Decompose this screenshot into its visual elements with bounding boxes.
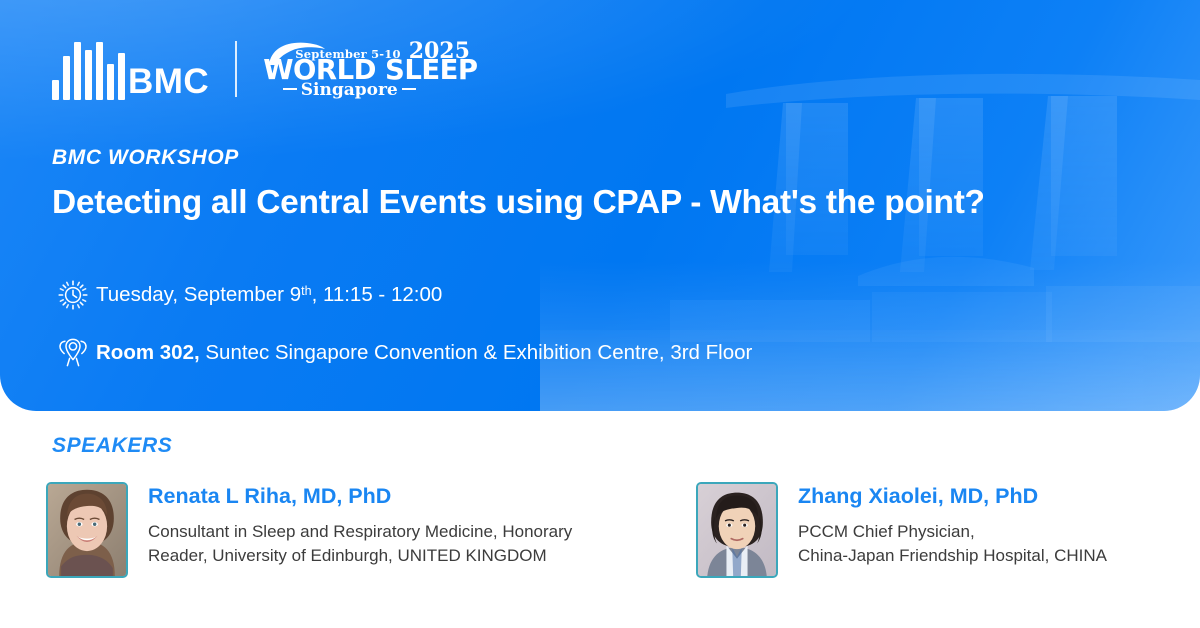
world-sleep-logo: September 5-10 2025 WORLD SLEEP Singapor… bbox=[263, 38, 435, 100]
speaker-affiliation-2: PCCM Chief Physician, China-Japan Friend… bbox=[798, 520, 1107, 568]
speaker-affiliation-2-line1: PCCM Chief Physician, bbox=[798, 520, 1107, 544]
schedule-row: Tuesday, September 9th, 11:15 - 12:00 bbox=[50, 278, 442, 312]
speaker-name-2: Zhang Xiaolei, MD, PhD bbox=[798, 485, 1107, 509]
equalizer-bars-icon bbox=[52, 42, 125, 100]
bmc-logo: BMC bbox=[52, 38, 209, 100]
speaker-affiliation-1-line2: Reader, University of Edinburgh, UNITED … bbox=[148, 544, 572, 568]
venue-address: Suntec Singapore Convention & Exhibition… bbox=[200, 341, 753, 364]
speaker-portrait-1 bbox=[46, 482, 128, 578]
workshop-announcement-poster: BMC September 5-10 2025 WORLD SLEEP Sing… bbox=[0, 0, 1200, 628]
speaker-info-1: Renata L Riha, MD, PhD Consultant in Sle… bbox=[148, 482, 572, 568]
hero-panel: BMC September 5-10 2025 WORLD SLEEP Sing… bbox=[0, 0, 1200, 411]
speaker-info-2: Zhang Xiaolei, MD, PhD PCCM Chief Physic… bbox=[798, 482, 1107, 568]
schedule-day-suffix: th bbox=[301, 284, 311, 298]
page-title: Detecting all Central Events using CPAP … bbox=[52, 184, 1160, 223]
speaker-name-1: Renata L Riha, MD, PhD bbox=[148, 485, 572, 509]
speaker-affiliation-1-line1: Consultant in Sleep and Respiratory Medi… bbox=[148, 520, 572, 544]
bmc-wordmark: BMC bbox=[128, 64, 209, 99]
speaker-affiliation-1: Consultant in Sleep and Respiratory Medi… bbox=[148, 520, 572, 568]
speaker-card-1: Renata L Riha, MD, PhD Consultant in Sle… bbox=[46, 482, 572, 578]
venue-row: Room 302, Suntec Singapore Convention & … bbox=[50, 335, 752, 371]
speaker-card-2: Zhang Xiaolei, MD, PhD PCCM Chief Physic… bbox=[696, 482, 1107, 578]
map-pins-icon bbox=[50, 335, 96, 371]
speaker-portrait-2 bbox=[696, 482, 778, 578]
venue-text: Room 302, Suntec Singapore Convention & … bbox=[96, 341, 752, 366]
clock-icon bbox=[50, 278, 96, 312]
schedule-text: Tuesday, September 9th, 11:15 - 12:00 bbox=[96, 283, 442, 308]
logo-divider bbox=[235, 41, 237, 97]
speakers-section-label: SPEAKERS bbox=[52, 434, 172, 458]
congress-city-row: Singapore bbox=[263, 82, 435, 99]
speaker-affiliation-2-line2: China-Japan Friendship Hospital, CHINA bbox=[798, 544, 1107, 568]
logo-row: BMC September 5-10 2025 WORLD SLEEP Sing… bbox=[52, 36, 435, 102]
eyebrow-label: BMC WORKSHOP bbox=[52, 146, 239, 170]
congress-city: Singapore bbox=[301, 80, 398, 100]
schedule-day: Tuesday, September 9 bbox=[96, 283, 301, 306]
venue-room: Room 302, bbox=[96, 341, 200, 364]
schedule-time: , 11:15 - 12:00 bbox=[312, 283, 443, 306]
